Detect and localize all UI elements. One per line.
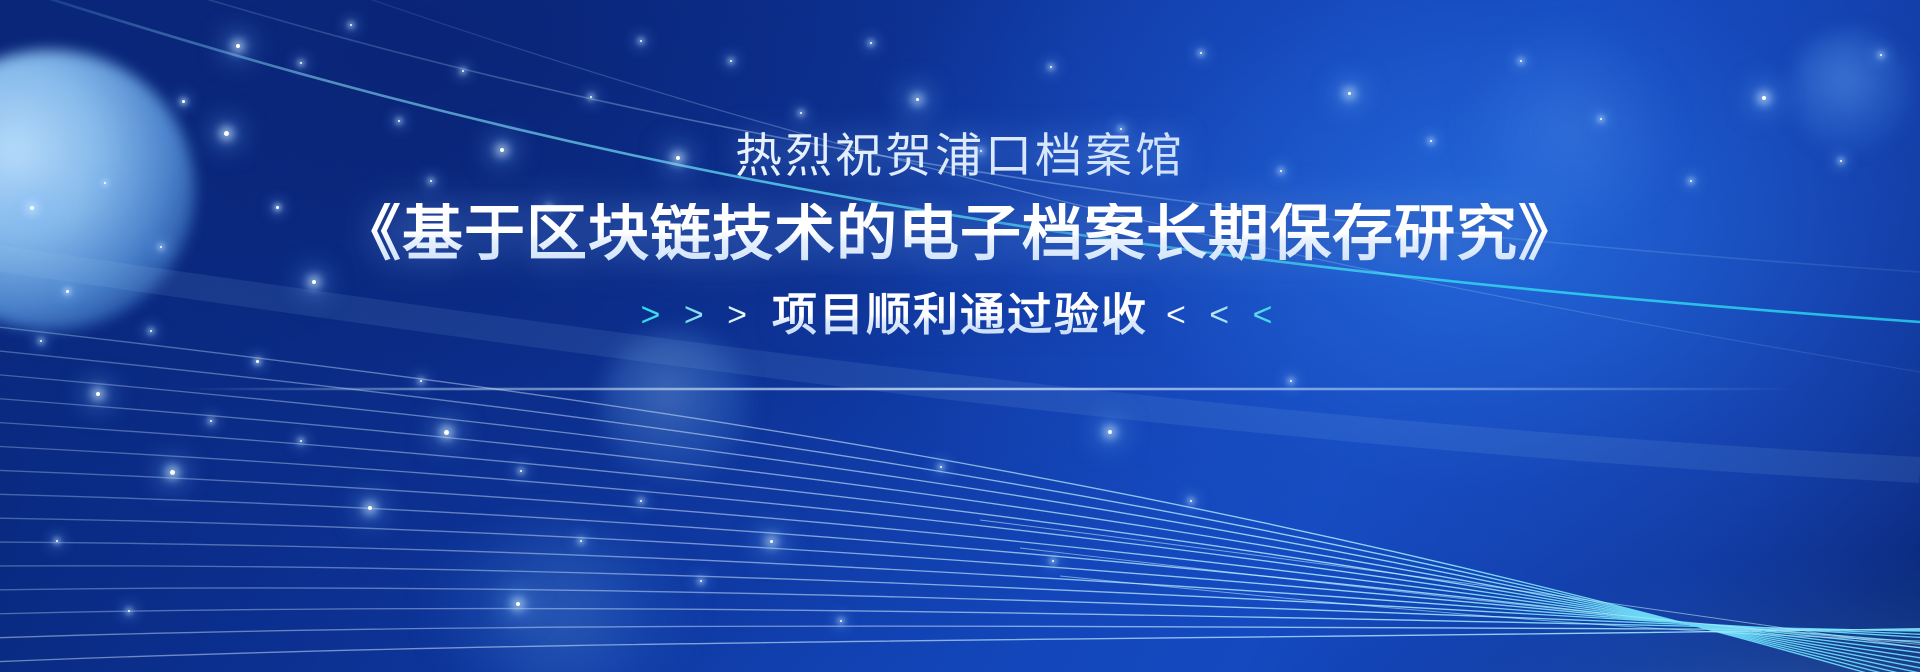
- banner-headline: 热烈祝贺浦口档案馆: [0, 132, 1920, 179]
- divider-sheen: [180, 388, 1800, 390]
- chevron-right-triple-icon: > > >: [641, 298, 754, 332]
- banner-copy: 热烈祝贺浦口档案馆 《基于区块链技术的电子档案长期保存研究》 > > > 项目顺…: [0, 132, 1920, 337]
- banner-status-text: 项目顺利通过验收: [772, 292, 1148, 337]
- banner-status-row: > > > 项目顺利通过验收 < < <: [0, 292, 1920, 337]
- glow-orb-bottom: [430, 520, 690, 672]
- chevron-left-triple-icon: < < <: [1166, 298, 1279, 332]
- celebration-banner: 热烈祝贺浦口档案馆 《基于区块链技术的电子档案长期保存研究》 > > > 项目顺…: [0, 0, 1920, 672]
- banner-project-title: 《基于区块链技术的电子档案长期保存研究》: [0, 203, 1920, 264]
- glow-orb-center: [600, 330, 750, 480]
